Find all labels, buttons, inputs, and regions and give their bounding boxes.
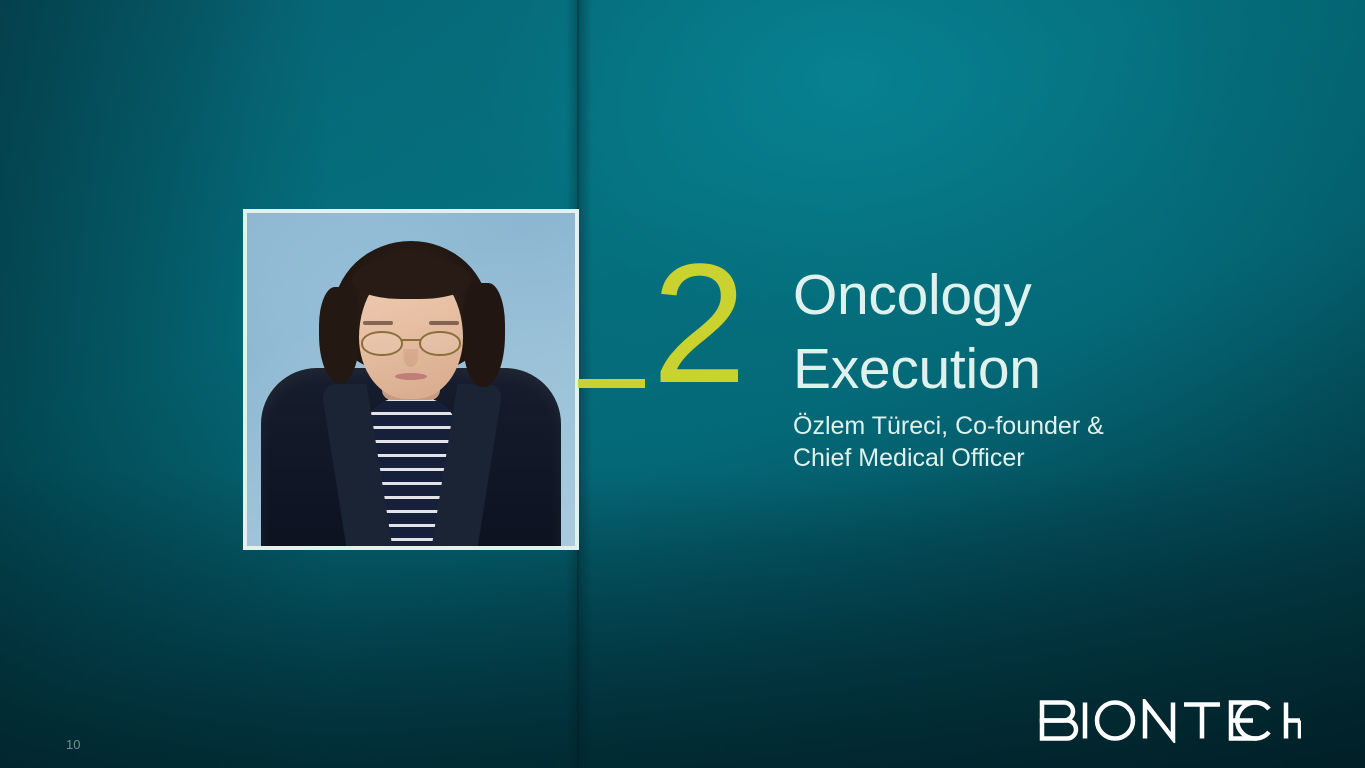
portrait-eyebrow-right [429, 321, 459, 325]
portrait-mouth [395, 373, 427, 380]
page-title-line-2: Execution [793, 332, 1233, 406]
portrait-hair-fringe [352, 257, 470, 299]
page-number: 10 [66, 737, 80, 752]
section-number: 2 [652, 239, 745, 409]
biontech-logo-svg [1039, 699, 1301, 743]
portrait-eyebrow-left [363, 321, 393, 325]
portrait-glasses-lens-left [361, 331, 403, 356]
portrait-glasses-lens-right [419, 331, 461, 356]
page-title-line-1: Oncology [793, 258, 1233, 332]
portrait-hair-right [463, 283, 505, 387]
presentation-slide: 2 Oncology Execution Özlem Türeci, Co-fo… [0, 0, 1365, 768]
page-title: Oncology Execution [793, 258, 1233, 406]
accent-dash-icon [578, 379, 645, 388]
speaker-attribution-line-1: Özlem Türeci, Co-founder & [793, 411, 1213, 443]
portrait-hair-left [319, 287, 359, 383]
portrait-photo [247, 213, 575, 546]
speaker-attribution-line-2: Chief Medical Officer [793, 443, 1213, 475]
portrait-photo-frame [243, 209, 579, 550]
biontech-logo-icon [1039, 699, 1301, 743]
portrait-nose [404, 349, 418, 367]
speaker-attribution: Özlem Türeci, Co-founder & Chief Medical… [793, 411, 1213, 474]
portrait-glasses-bridge [401, 339, 421, 341]
